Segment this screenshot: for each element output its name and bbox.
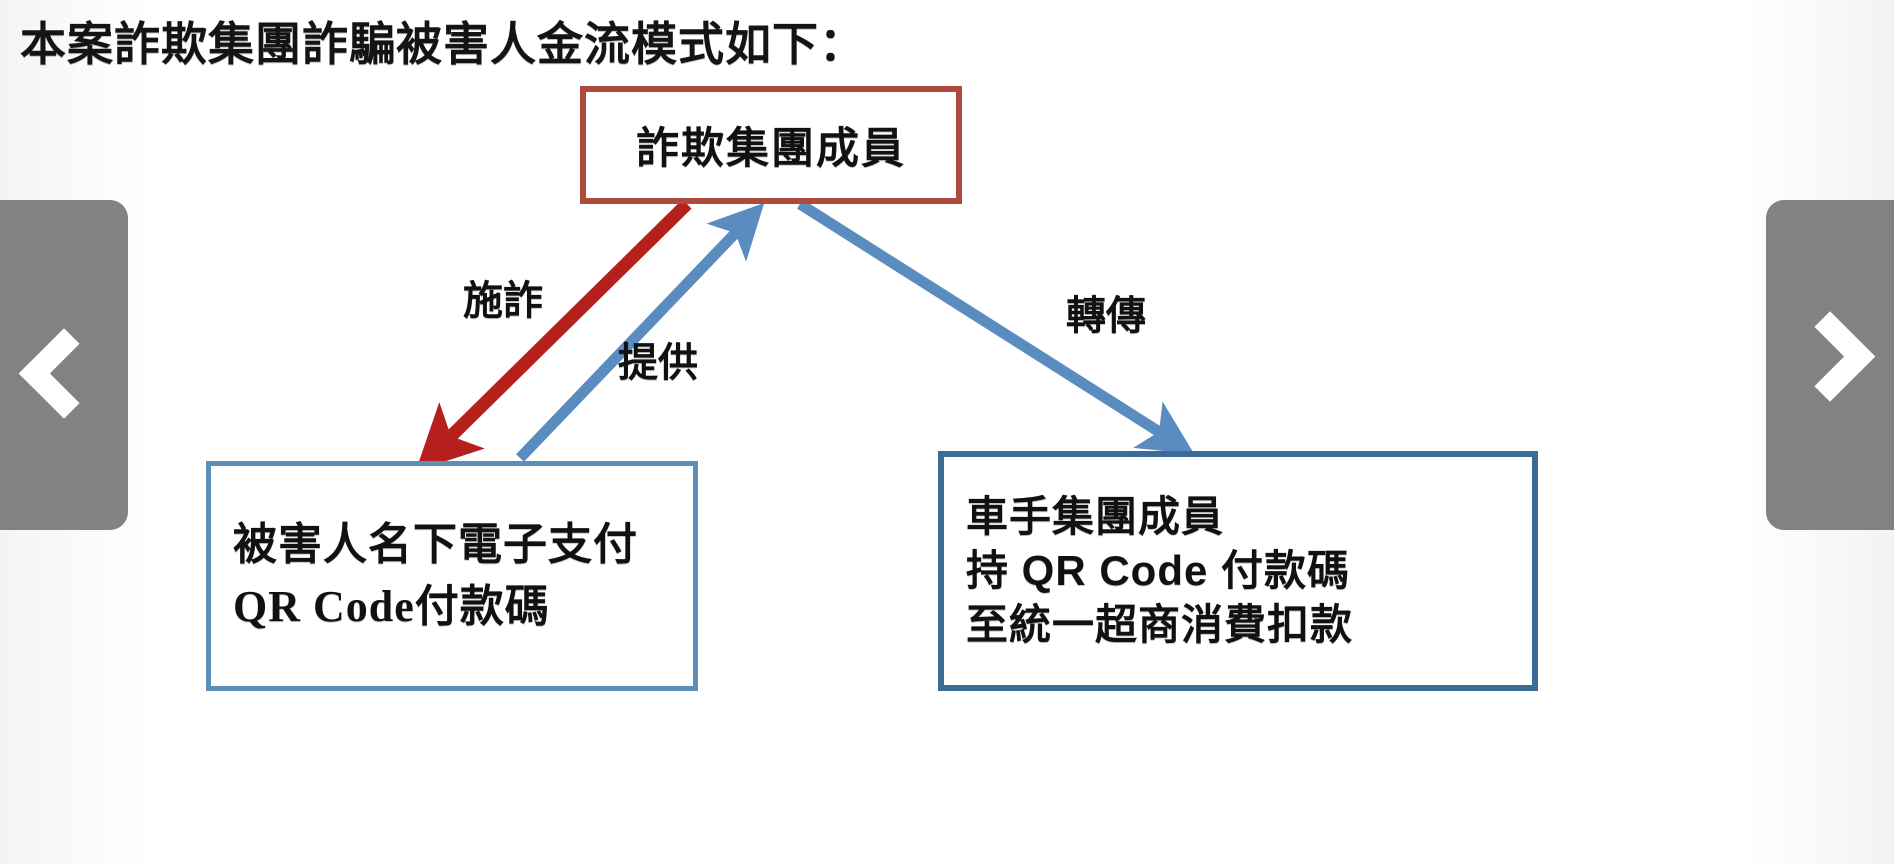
edge-label-deceive: 施詐	[463, 268, 543, 326]
chevron-right-icon	[1785, 311, 1876, 402]
chevron-left-icon	[19, 328, 110, 419]
node-victim-payment-line1: 被害人名下電子支付	[233, 514, 693, 576]
node-mule-group-line1: 車手集團成員	[966, 490, 1532, 544]
page-title: 本案詐欺集團詐騙被害人金流模式如下：	[20, 8, 866, 74]
next-slide-button[interactable]	[1766, 200, 1894, 530]
previous-slide-button[interactable]	[0, 200, 128, 530]
node-victim-payment[interactable]: 被害人名下電子支付 QR Code付款碼	[206, 461, 698, 691]
edge-label-provide: 提供	[618, 330, 698, 388]
edge-label-forward: 轉傳	[1066, 283, 1146, 341]
node-fraud-group[interactable]: 詐欺集團成員	[580, 86, 962, 204]
node-mule-group-line2: 持 QR Code 付款碼	[966, 544, 1532, 598]
node-victim-payment-line2: QR Code付款碼	[233, 576, 693, 638]
node-fraud-group-label: 詐欺集團成員	[636, 114, 906, 176]
slide-viewer: 本案詐欺集團詐騙被害人金流模式如下： 詐欺集團成員 被害人名下電子支付 QR C…	[0, 0, 1894, 864]
node-mule-group-line3: 至統一超商消費扣款	[966, 598, 1532, 652]
node-mule-group[interactable]: 車手集團成員 持 QR Code 付款碼 至統一超商消費扣款	[938, 451, 1538, 691]
